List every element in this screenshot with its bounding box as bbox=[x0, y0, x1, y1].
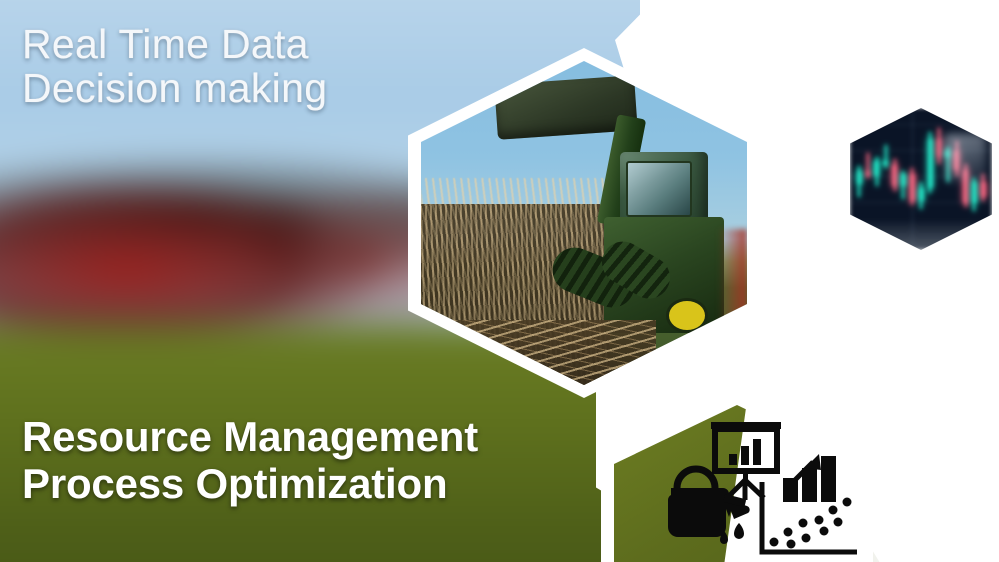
candlestick-body bbox=[857, 171, 862, 185]
candlestick-body bbox=[981, 182, 986, 197]
candlestick-body bbox=[883, 161, 888, 164]
harvester-wheel bbox=[669, 301, 705, 330]
candlestick-body bbox=[972, 182, 977, 203]
candlestick-body bbox=[928, 139, 933, 189]
banner-graphic: Real Time Data Decision making Resource … bbox=[0, 0, 999, 562]
candlestick-body bbox=[901, 174, 906, 186]
candlestick-body bbox=[874, 161, 879, 176]
candlestick-body bbox=[919, 188, 924, 200]
candlestick-body bbox=[937, 139, 942, 158]
candlestick-body bbox=[910, 174, 915, 201]
candlestick-body bbox=[866, 171, 871, 176]
headline-top: Real Time Data Decision making bbox=[22, 22, 542, 111]
harvester-cab-glass bbox=[626, 161, 692, 217]
headline-bottom: Resource Management Process Optimization bbox=[22, 413, 662, 508]
scatter-plot-icon bbox=[757, 482, 863, 562]
candlestick-glare bbox=[944, 134, 987, 182]
candlestick-body bbox=[892, 165, 897, 187]
